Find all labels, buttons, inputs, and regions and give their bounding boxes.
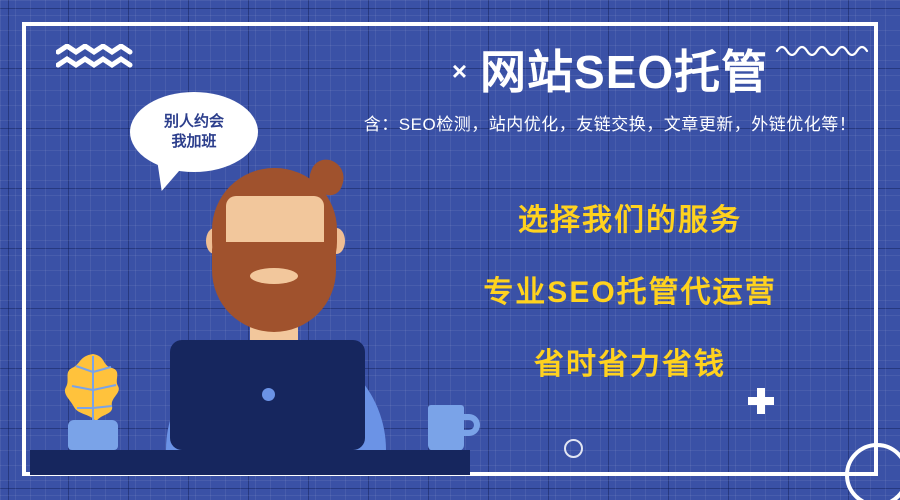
character-beard [212, 242, 336, 332]
speech-bubble-line-2: 我加班 [171, 132, 216, 152]
plant-pot [68, 420, 118, 450]
page-subtitle: 含：SEO检测，站内优化，友链交换，文章更新，外链优化等！ [340, 110, 880, 135]
character-mouth [250, 268, 298, 284]
corner-circle-icon [845, 443, 900, 500]
plus-mark-icon [748, 388, 774, 414]
slogan-list: 选择我们的服务 专业SEO托管代运营 省时省力省钱 [430, 195, 830, 383]
headline-block: ×网站SEO托管 含：SEO检测，站内优化，友链交换，文章更新，外链优化等！ [340, 48, 880, 135]
slogan-line-1: 选择我们的服务 [430, 195, 830, 239]
desk-surface [30, 450, 470, 475]
slogan-line-3: 省时省力省钱 [430, 339, 830, 383]
speech-bubble-line-1: 别人约会 [164, 112, 224, 132]
plant-leaf-icon [62, 352, 124, 426]
page-title-text: 网站SEO托管 [480, 46, 768, 98]
slogan-line-2: 专业SEO托管代运营 [430, 267, 830, 311]
x-mark-icon: × [452, 56, 468, 86]
poster-canvas: ×网站SEO托管 含：SEO检测，站内优化，友链交换，文章更新，外链优化等！ 选… [0, 0, 900, 500]
wave-left-icon [56, 44, 136, 70]
page-title: ×网站SEO托管 [340, 48, 880, 96]
coffee-mug [428, 405, 464, 451]
laptop-logo-dot-icon [262, 388, 275, 401]
small-circle-icon [564, 439, 583, 458]
